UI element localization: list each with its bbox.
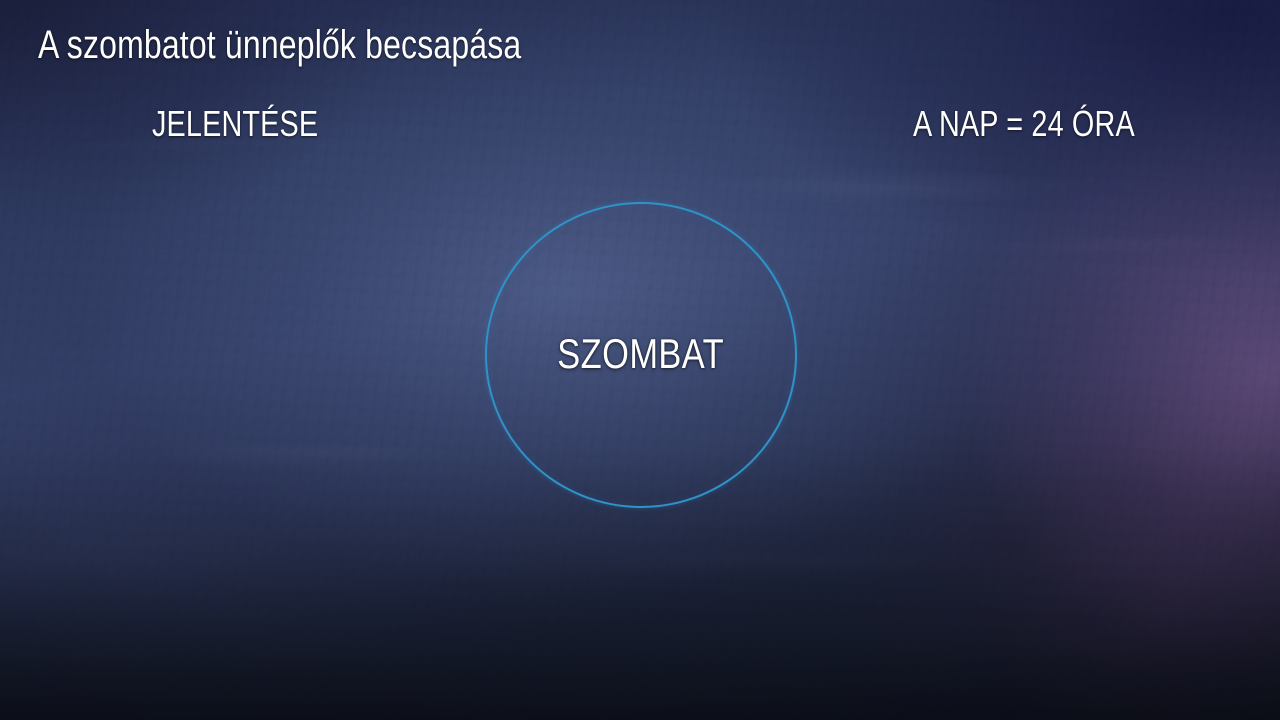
circle-label-sabbath: SZOMBAT bbox=[558, 331, 725, 377]
day-equals-hours-statement: A NAP = 24 ÓRA bbox=[913, 103, 1135, 145]
circle-label-wrapper: SZOMBAT bbox=[487, 331, 795, 377]
presentation-slide: A szombatot ünneplők becsapása JELENTÉSE… bbox=[0, 0, 1280, 720]
slide-content: A szombatot ünneplők becsapása JELENTÉSE… bbox=[0, 0, 1280, 720]
slide-subtitle: JELENTÉSE bbox=[152, 103, 318, 145]
sabbath-circle-diagram: SZOMBAT bbox=[485, 202, 797, 508]
slide-title: A szombatot ünneplők becsapása bbox=[38, 22, 521, 68]
